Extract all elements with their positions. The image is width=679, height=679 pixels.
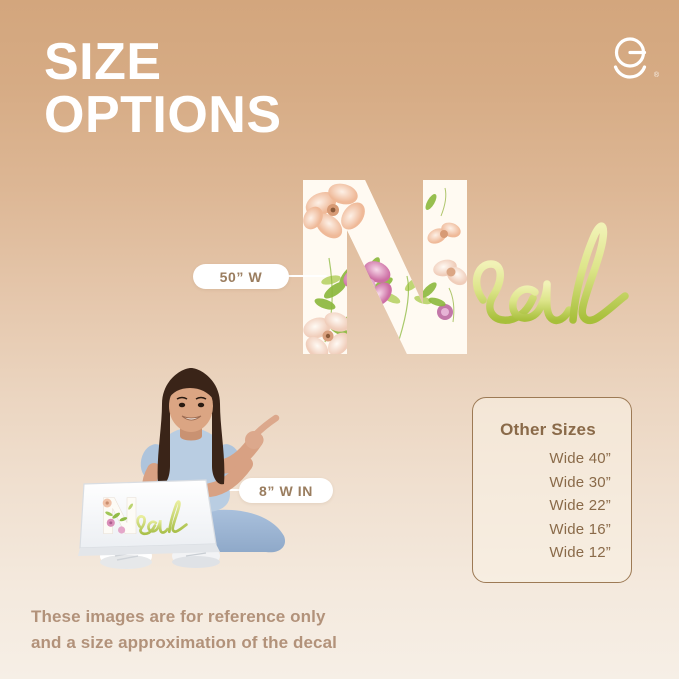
- callout-pill-large: 50” W: [193, 264, 289, 289]
- footnote-disclaimer: These images are for reference only and …: [31, 604, 337, 655]
- decal-letter-N: [295, 172, 475, 364]
- photo-woman-with-laptop: [78, 366, 310, 598]
- page-title-line-2: OPTIONS: [44, 89, 282, 142]
- footnote-line-2: and a size approximation of the decal: [31, 630, 337, 656]
- g-monogram-logo-icon: [607, 34, 653, 84]
- callout-leader-line-large: [285, 275, 327, 277]
- large-decal-noah: [295, 172, 645, 362]
- size-option-3: Wide 16”: [485, 518, 611, 542]
- size-option-0: Wide 40”: [485, 447, 611, 471]
- laptop-with-decal: [78, 480, 220, 556]
- other-sizes-heading: Other Sizes: [485, 420, 611, 440]
- page-title-line-1: SIZE: [44, 36, 282, 89]
- decal-script-oah: [477, 226, 625, 320]
- size-options-infographic: SIZE OPTIONS ®: [0, 0, 679, 679]
- page-title: SIZE OPTIONS: [44, 36, 282, 142]
- floral-rose-small: [352, 331, 370, 349]
- logo-trademark: ®: [654, 72, 659, 79]
- size-option-4: Wide 12”: [485, 541, 611, 565]
- size-option-1: Wide 30”: [485, 471, 611, 495]
- footnote-line-1: These images are for reference only: [31, 604, 337, 630]
- other-sizes-box: Other Sizes Wide 40” Wide 30” Wide 22” W…: [472, 397, 632, 583]
- size-option-2: Wide 22”: [485, 494, 611, 518]
